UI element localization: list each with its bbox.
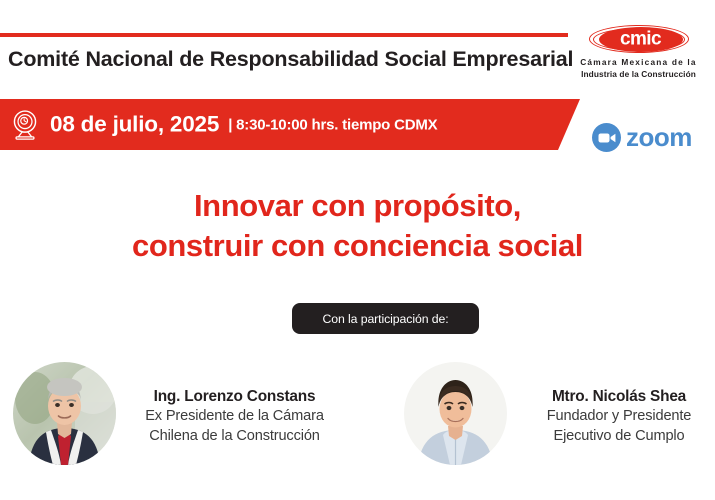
event-time: | 8:30-10:00 hrs. tiempo CDMX bbox=[228, 117, 437, 134]
speaker-role-line1: Ex Presidente de la Cámara bbox=[128, 407, 341, 426]
speaker-role-line2: Ejecutivo de Cumplo bbox=[519, 427, 715, 446]
avatar-portrait-icon bbox=[404, 362, 507, 465]
zoom-badge-icon bbox=[592, 123, 621, 152]
zoom-wordmark: zoom bbox=[626, 124, 692, 150]
speaker-role-line1: Fundador y Presidente bbox=[519, 407, 715, 426]
cmic-subtitle-line2: Industria de la Construcción bbox=[566, 69, 711, 81]
avatar-portrait-icon bbox=[13, 362, 116, 465]
speaker-card: Ing. Lorenzo Constans Ex Presidente de l… bbox=[13, 362, 341, 465]
headline-line1: Innovar con propósito, bbox=[0, 186, 715, 226]
top-red-rule-icon bbox=[0, 33, 568, 37]
speaker-info: Mtro. Nicolás Shea Fundador y Presidente… bbox=[519, 362, 715, 446]
cmic-wordmark: cmic bbox=[620, 29, 661, 48]
speaker-role: Fundador y Presidente Ejecutivo de Cumpl… bbox=[519, 407, 715, 446]
speakers-section: Ing. Lorenzo Constans Ex Presidente de l… bbox=[0, 362, 715, 492]
speaker-photo-nicolas-shea bbox=[404, 362, 507, 465]
cmic-subtitle: Cámara Mexicana de la Industria de la Co… bbox=[566, 57, 711, 81]
headline-line2: construir con conciencia social bbox=[0, 226, 715, 266]
speaker-name: Mtro. Nicolás Shea bbox=[519, 387, 715, 407]
cmic-logo: cmic Cámara Mexicana de la Industria de … bbox=[566, 24, 711, 84]
speaker-role-line2: Chilena de la Construcción bbox=[128, 427, 341, 446]
cmic-subtitle-line1: Cámara Mexicana de la bbox=[566, 57, 711, 69]
speaker-role: Ex Presidente de la Cámara Chilena de la… bbox=[128, 407, 341, 446]
speaker-info: Ing. Lorenzo Constans Ex Presidente de l… bbox=[128, 362, 341, 446]
cmic-filled-oval-icon: cmic bbox=[599, 27, 683, 52]
speaker-name: Ing. Lorenzo Constans bbox=[128, 387, 341, 407]
speaker-card: Mtro. Nicolás Shea Fundador y Presidente… bbox=[404, 362, 715, 465]
page-title: Comité Nacional de Responsabilidad Socia… bbox=[8, 47, 568, 72]
webinar-flyer: Comité Nacional de Responsabilidad Socia… bbox=[0, 0, 715, 500]
webcam-icon bbox=[8, 108, 42, 142]
speaker-photo-lorenzo-constans bbox=[13, 362, 116, 465]
headline: Innovar con propósito, construir con con… bbox=[0, 186, 715, 265]
event-date: 08 de julio, 2025 bbox=[50, 111, 219, 137]
participation-badge: Con la participación de: bbox=[292, 303, 479, 334]
cmic-oval-logo-icon: cmic bbox=[589, 24, 689, 54]
video-camera-icon bbox=[598, 132, 616, 144]
date-banner: 08 de julio, 2025 | 8:30-10:00 hrs. tiem… bbox=[0, 99, 580, 150]
zoom-logo: zoom bbox=[592, 123, 692, 152]
participation-badge-label: Con la participación de: bbox=[322, 312, 448, 326]
